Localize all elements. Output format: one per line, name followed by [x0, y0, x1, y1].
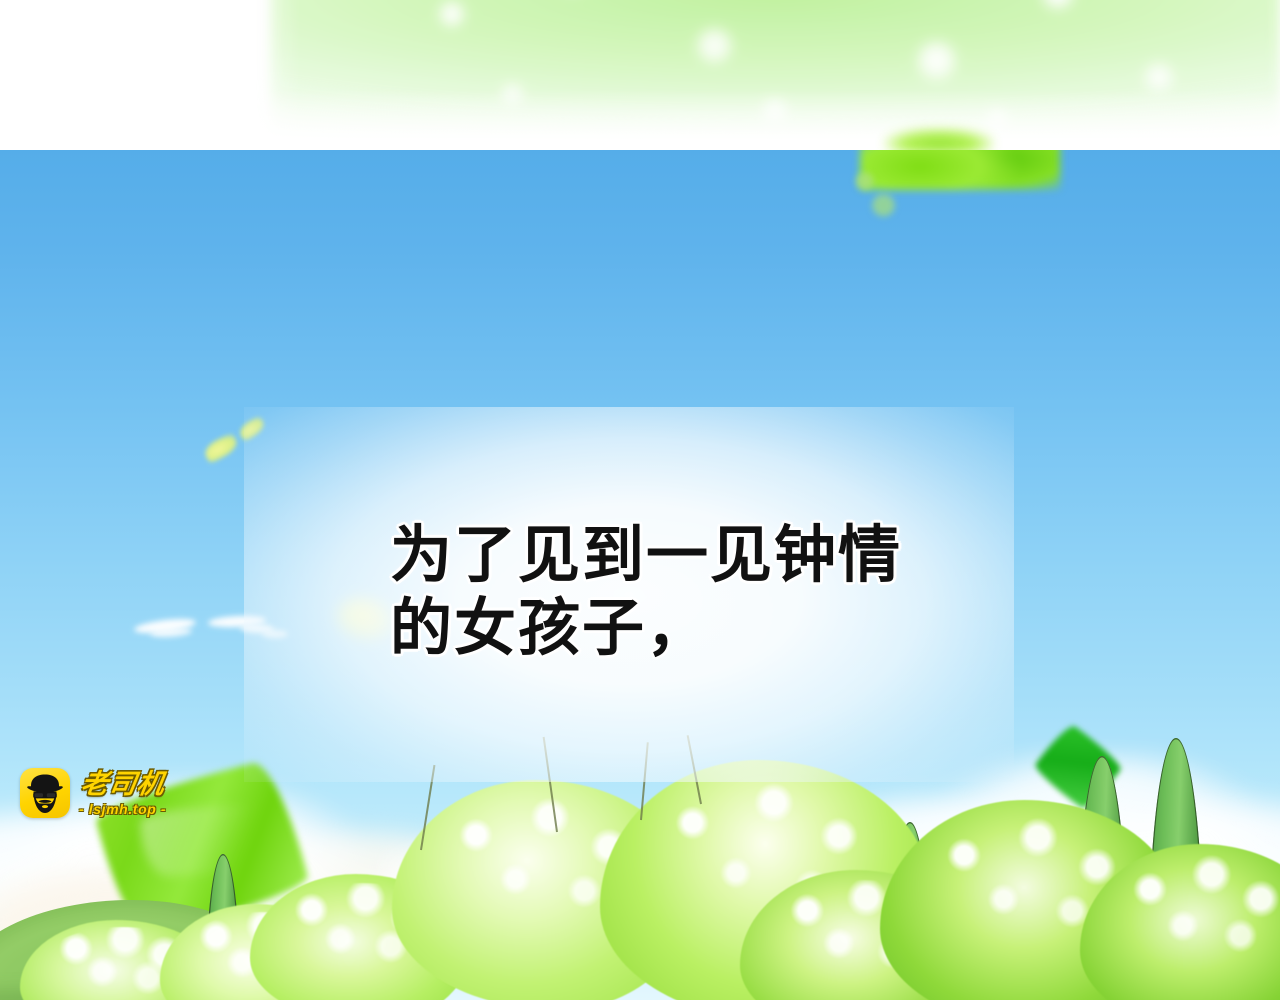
panel-sky-scene: 为了见到一见钟情 的女孩子，: [0, 150, 1280, 1000]
dialogue-box: 为了见到一见钟情 的女孩子，: [244, 407, 1014, 782]
dialogue-text: 为了见到一见钟情 的女孩子，: [390, 519, 990, 665]
watermark[interactable]: 老司机 - lsjmh.top -: [20, 768, 166, 818]
petal-icon-a: [202, 432, 240, 464]
leaf-bokeh-dots: [845, 168, 915, 228]
watermark-url: - lsjmh.top -: [79, 802, 166, 816]
watermark-brand: 老司机: [78, 771, 166, 798]
panel-top-strip: [0, 0, 1280, 150]
white-fade-bottom: [0, 90, 1280, 150]
watermark-text: 老司机 - lsjmh.top -: [79, 771, 166, 816]
bearded-man-cap-sunglasses-icon: [20, 768, 70, 818]
leaf-edge-hint: [884, 128, 994, 150]
comic-page: 为了见到一见钟情 的女孩子，: [0, 0, 1280, 1000]
